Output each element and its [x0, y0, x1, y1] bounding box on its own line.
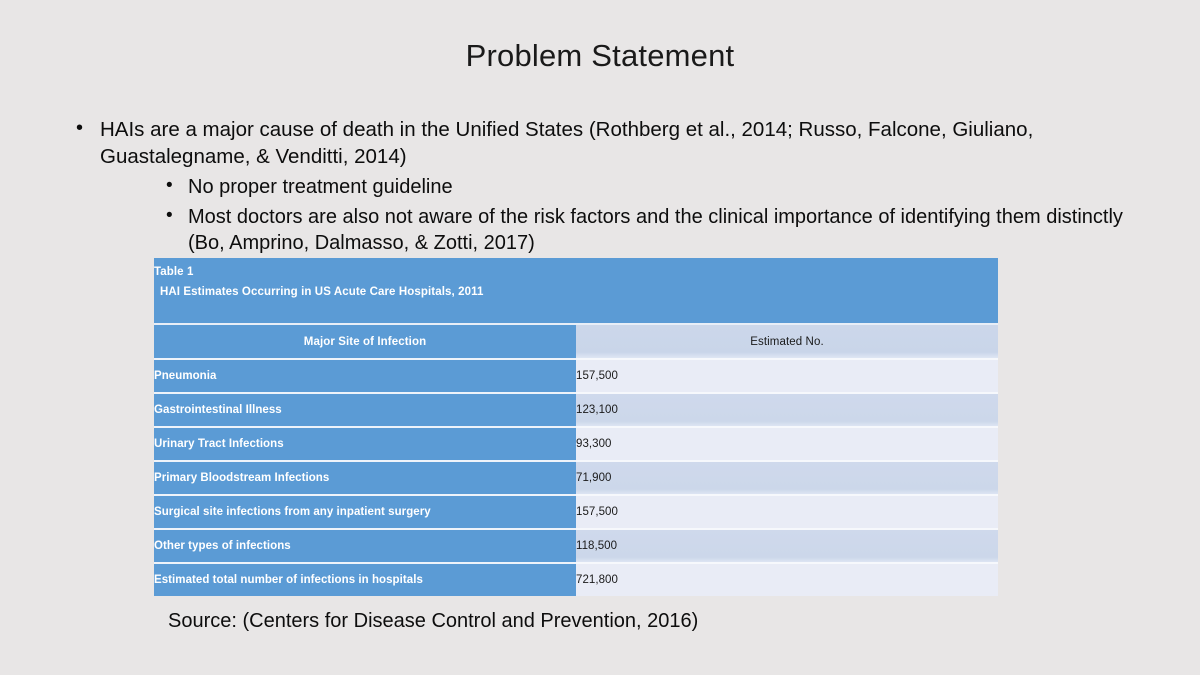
- cell-estimate: 118,500: [576, 529, 998, 563]
- cell-estimate: 123,100: [576, 393, 998, 427]
- slide-canvas: Problem Statement • HAIs are a major cau…: [0, 0, 1200, 675]
- table-row: Primary Bloodstream Infections 71,900: [154, 461, 998, 495]
- hai-estimates-table: Table 1 HAI Estimates Occurring in US Ac…: [154, 258, 998, 596]
- table-caption-title: HAI Estimates Occurring in US Acute Care…: [154, 286, 998, 323]
- table-row: Other types of infections 118,500: [154, 529, 998, 563]
- cell-estimate: 157,500: [576, 359, 998, 393]
- bullet-text: Most doctors are also not aware of the r…: [188, 206, 1123, 254]
- bullet-list: • HAIs are a major cause of death in the…: [72, 116, 1132, 260]
- bullet-item-level1: • HAIs are a major cause of death in the…: [72, 116, 1132, 170]
- table-caption-row: HAI Estimates Occurring in US Acute Care…: [154, 286, 998, 323]
- bullet-item-level2: • No proper treatment guideline: [166, 174, 1132, 200]
- cell-estimate: 157,500: [576, 495, 998, 529]
- column-header-site: Major Site of Infection: [154, 325, 576, 359]
- cell-estimate: 71,900: [576, 461, 998, 495]
- bullet-dot-icon: •: [166, 203, 173, 229]
- cell-estimate: 721,800: [576, 563, 998, 596]
- cell-site: Gastrointestinal Illness: [154, 393, 576, 427]
- table-row: Pneumonia 157,500: [154, 359, 998, 393]
- cell-site: Other types of infections: [154, 529, 576, 563]
- bullet-dot-icon: •: [166, 173, 173, 199]
- bullet-dot-icon: •: [76, 115, 83, 142]
- sub-bullet-list: • No proper treatment guideline • Most d…: [72, 174, 1132, 256]
- cell-estimate: 93,300: [576, 427, 998, 461]
- bullet-item-level2: • Most doctors are also not aware of the…: [166, 204, 1132, 256]
- bullet-text: No proper treatment guideline: [188, 176, 453, 198]
- table-caption-row: Table 1: [154, 258, 998, 286]
- table-row: Gastrointestinal Illness 123,100: [154, 393, 998, 427]
- cell-site: Pneumonia: [154, 359, 576, 393]
- cell-site: Urinary Tract Infections: [154, 427, 576, 461]
- table-header-row: Major Site of Infection Estimated No.: [154, 325, 998, 359]
- bullet-text: HAIs are a major cause of death in the U…: [100, 118, 1033, 168]
- table-source-note: Source: (Centers for Disease Control and…: [168, 608, 698, 635]
- page-title: Problem Statement: [0, 38, 1200, 74]
- table-caption-label: Table 1: [154, 258, 998, 286]
- table-row: Estimated total number of infections in …: [154, 563, 998, 596]
- cell-site: Surgical site infections from any inpati…: [154, 495, 576, 529]
- column-header-estimate: Estimated No.: [576, 325, 998, 359]
- cell-site: Primary Bloodstream Infections: [154, 461, 576, 495]
- table-row: Surgical site infections from any inpati…: [154, 495, 998, 529]
- table-row: Urinary Tract Infections 93,300: [154, 427, 998, 461]
- cell-site: Estimated total number of infections in …: [154, 563, 576, 596]
